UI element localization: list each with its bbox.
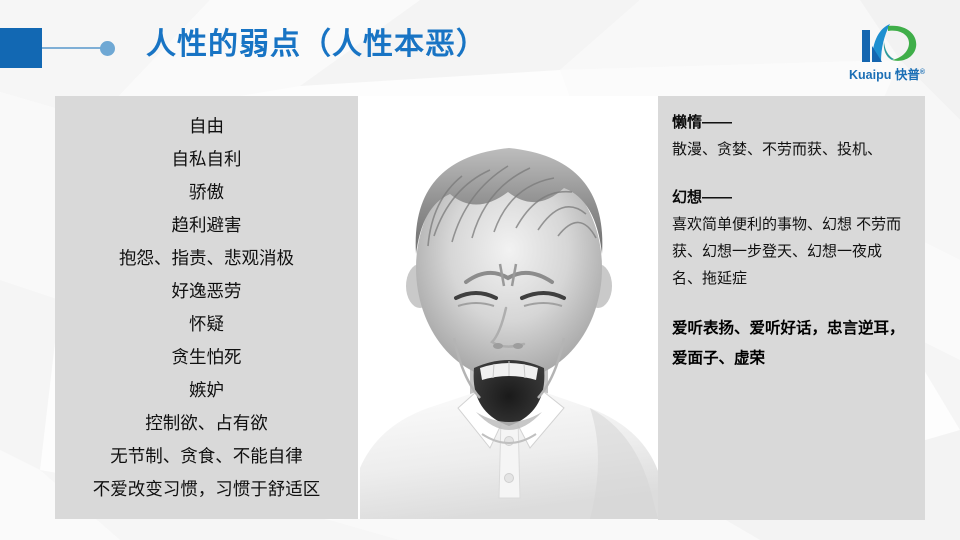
detail-body: 懒惰—— 散漫、贪婪、不劳而获、投机、 幻想—— 喜欢简单便利的事物、幻想 不劳… <box>658 96 925 374</box>
list-item: 怀疑 <box>55 308 358 341</box>
section-heading-laziness: 懒惰—— <box>672 110 907 136</box>
list-item: 自私自利 <box>55 143 358 176</box>
list-item: 自由 <box>55 110 358 143</box>
logo-registered-mark: ® <box>920 69 925 76</box>
list-item: 控制欲、占有欲 <box>55 407 358 440</box>
list-item: 抱怨、指责、悲观消极 <box>55 242 358 275</box>
list-item: 无节制、贪食、不能自律 <box>55 440 358 473</box>
weaknesses-list: 自由 自私自利 骄傲 趋利避害 抱怨、指责、悲观消极 好逸恶劳 怀疑 贪生怕死 … <box>55 96 358 506</box>
logo-latin-text: Kuaipu <box>849 68 891 82</box>
weaknesses-list-panel: 自由 自私自利 骄傲 趋利避害 抱怨、指责、悲观消极 好逸恶劳 怀疑 贪生怕死 … <box>55 96 358 519</box>
list-item: 嫉妒 <box>55 374 358 407</box>
logo-wordmark: Kuaipu 快普® <box>832 64 942 83</box>
title-accent-dot <box>100 41 115 56</box>
list-item: 不爱改变习惯，习惯于舒适区 <box>55 473 358 506</box>
title-connector-line <box>42 47 104 49</box>
list-item: 趋利避害 <box>55 209 358 242</box>
logo-mark-icon <box>832 22 942 64</box>
section-spacer <box>672 163 907 185</box>
kuaipu-logo: Kuaipu 快普® <box>832 22 942 84</box>
list-item: 贪生怕死 <box>55 341 358 374</box>
title-accent-square <box>0 28 42 68</box>
section-body-fantasy: 喜欢简单便利的事物、幻想 不劳而获、幻想一步登天、幻想一夜成名、拖延症 <box>672 211 907 292</box>
emphasis-text: 爱听表扬、爱听好话，忠言逆耳，爱面子、虚荣 <box>672 314 907 374</box>
weaknesses-detail-panel: 懒惰—— 散漫、贪婪、不劳而获、投机、 幻想—— 喜欢简单便利的事物、幻想 不劳… <box>658 96 925 520</box>
logo-cn-text: 快普 <box>895 68 920 82</box>
list-item: 好逸恶劳 <box>55 275 358 308</box>
angry-screaming-boy-photo <box>358 96 660 519</box>
page-title: 人性的弱点（人性本恶） <box>146 23 487 67</box>
section-spacer <box>672 292 907 314</box>
slide-canvas: 人性的弱点（人性本恶） Kuaipu 快普® 自由 自私自利 骄傲 趋利 <box>0 0 960 540</box>
list-item: 骄傲 <box>55 176 358 209</box>
section-heading-fantasy: 幻想—— <box>672 185 907 211</box>
section-body-laziness: 散漫、贪婪、不劳而获、投机、 <box>672 136 907 163</box>
